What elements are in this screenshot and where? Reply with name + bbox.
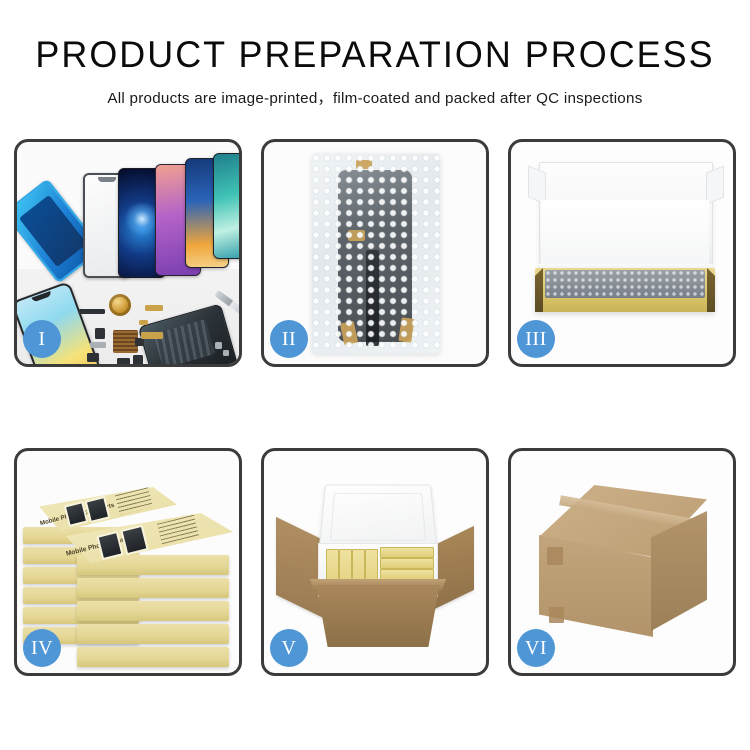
phone-screen-graphic-4 (213, 153, 239, 259)
foam-sheet-graphic (541, 200, 709, 274)
bubble-bag-graphic (312, 154, 440, 354)
process-step-panel-1[interactable]: I (14, 139, 242, 367)
step-badge-3: III (517, 320, 555, 358)
copper-coil-graphic (109, 294, 131, 316)
step-badge-1: I (23, 320, 61, 358)
process-step-panel-2[interactable]: II (261, 139, 489, 367)
process-step-panel-5[interactable]: V (261, 448, 489, 676)
step-badge-6: VI (517, 629, 555, 667)
page-subtitle: All products are image-printed，film-coat… (0, 86, 750, 108)
carton-body-graphic (308, 585, 448, 647)
page-header: PRODUCT PREPARATION PROCESS All products… (0, 0, 750, 108)
step-badge-4: IV (23, 629, 61, 667)
process-step-grid: I II III (14, 139, 736, 676)
process-step-panel-4[interactable]: Mobile Phone Spare Parts Mobile Phone Sp… (14, 448, 242, 676)
process-step-panel-3[interactable]: III (508, 139, 736, 367)
process-step-panel-6[interactable]: VI (508, 448, 736, 676)
step-badge-5: V (270, 629, 308, 667)
packed-parts-graphic (545, 270, 705, 298)
foam-lid-graphic (318, 485, 437, 552)
step-badge-2: II (270, 320, 308, 358)
page-title: PRODUCT PREPARATION PROCESS (11, 36, 739, 73)
